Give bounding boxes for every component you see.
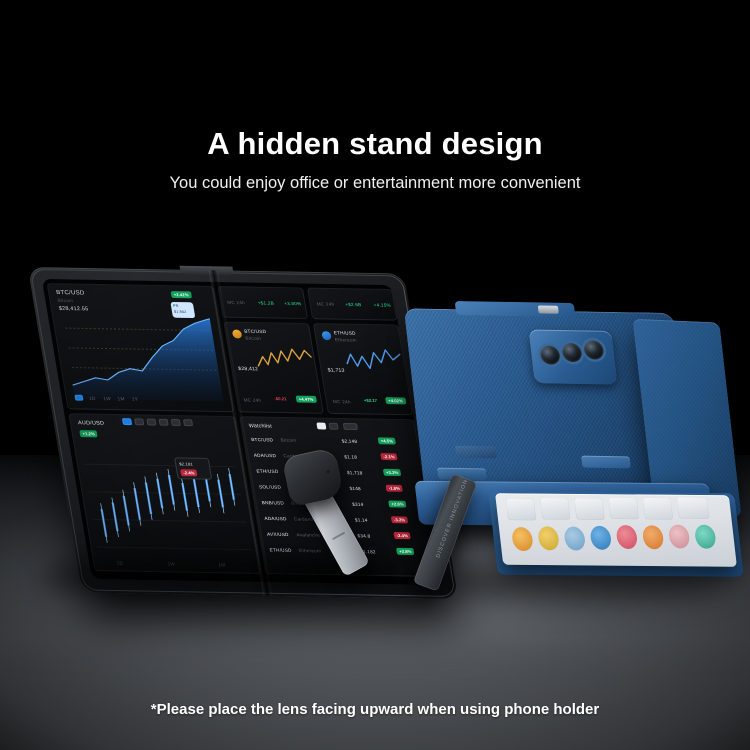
app-icon[interactable] [694, 525, 717, 549]
home-widget[interactable] [540, 498, 571, 520]
stand-tab-right[interactable] [581, 456, 631, 469]
app-icon[interactable] [563, 527, 586, 551]
app-icon[interactable] [668, 524, 691, 548]
home-widget[interactable] [642, 497, 673, 519]
app-icon[interactable] [642, 525, 665, 549]
home-widget[interactable] [506, 498, 537, 520]
camera-lens-1-icon [539, 346, 560, 365]
left-phone-kickstand-shadow [268, 560, 398, 586]
app-icon[interactable] [615, 525, 638, 549]
app-icon[interactable] [537, 526, 560, 550]
camera-island [529, 329, 618, 384]
page-subtitle: You could enjoy office or entertainment … [0, 174, 750, 193]
camera-lens-2-icon [561, 343, 582, 362]
app-icon[interactable] [589, 526, 612, 550]
page-title: A hidden stand design [0, 126, 750, 162]
brand-logo-plate [455, 446, 497, 459]
footnote-text: *Please place the lens facing upward whe… [0, 701, 750, 718]
camera-lens-3-icon [583, 340, 604, 359]
right-phone-top-bar [455, 301, 576, 317]
home-widget[interactable] [608, 497, 639, 519]
right-phone-front-screen[interactable] [495, 493, 737, 567]
product-marketing-image: BTC/USD Bitcoin $28,412.55 +2.41% [0, 0, 750, 750]
app-icon[interactable] [511, 527, 534, 551]
home-widget[interactable] [574, 498, 605, 520]
home-widget[interactable] [677, 497, 710, 519]
